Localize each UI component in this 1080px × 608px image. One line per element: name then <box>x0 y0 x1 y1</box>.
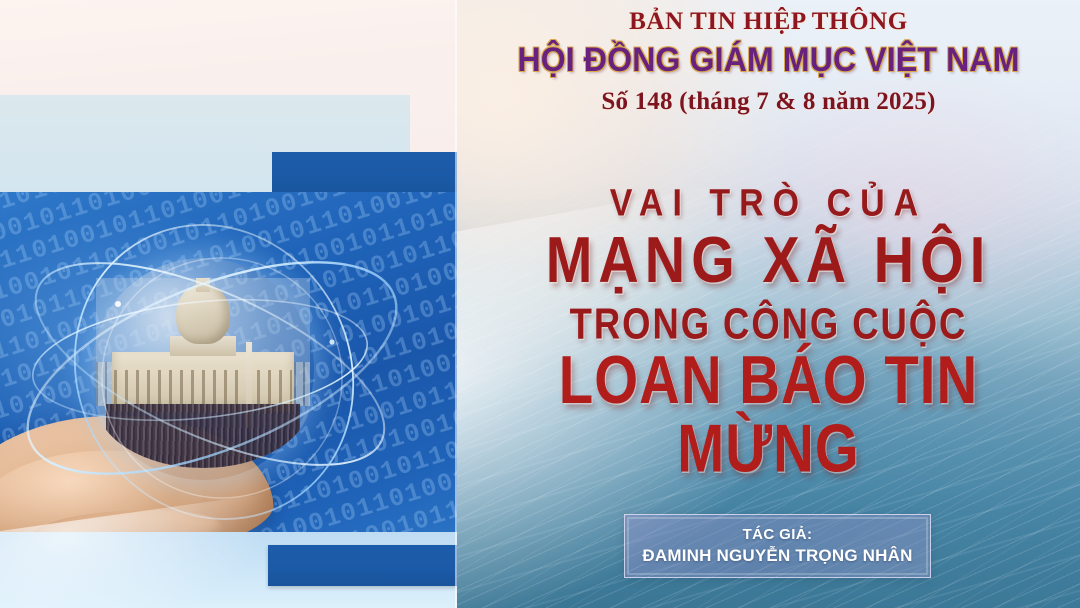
st-peters-basilica <box>96 278 310 468</box>
poster-canvas: 0101101001011010010110100101101001011010… <box>0 0 1080 608</box>
author-credit-box: TÁC GIẢ: ĐAMINH NGUYỄN TRỌNG NHÂN <box>624 514 931 578</box>
author-label: TÁC GIẢ: <box>743 525 813 545</box>
blue-accent-bar-top <box>272 152 457 192</box>
title-line-3: TRONG CÔNG CUỘC <box>469 303 1067 347</box>
basilica-dome <box>176 284 230 344</box>
author-name: ĐAMINH NGUYỄN TRỌNG NHÂN <box>642 545 912 567</box>
bulletin-organization: HỘI ĐỒNG GIÁM MỤC VIỆT NAM <box>476 42 1062 79</box>
left-image-panel: 0101101001011010010110100101101001011010… <box>0 0 457 608</box>
bulletin-line-1: BẢN TIN HIỆP THÔNG <box>457 8 1080 37</box>
title-line-4: LOAN BÁO TIN MỪNG <box>460 346 1077 483</box>
bulletin-header: BẢN TIN HIỆP THÔNG HỘI ĐỒNG GIÁM MỤC VIỆ… <box>457 8 1080 116</box>
main-title: VAI TRÒ CỦA MẠNG XÃ HỘI TRONG CÔNG CUỘC … <box>457 186 1080 473</box>
basilica-lantern <box>196 278 210 292</box>
blue-accent-bar-bottom <box>268 545 457 586</box>
bulletin-issue-number: Số 148 (tháng 7 & 8 năm 2025) <box>457 88 1080 116</box>
hero-photo: 0101101001011010010110100101101001011010… <box>0 192 457 532</box>
title-line-1: VAI TRÒ CỦA <box>457 184 1080 223</box>
title-line-2: MẠNG XÃ HỘI <box>457 226 1080 292</box>
